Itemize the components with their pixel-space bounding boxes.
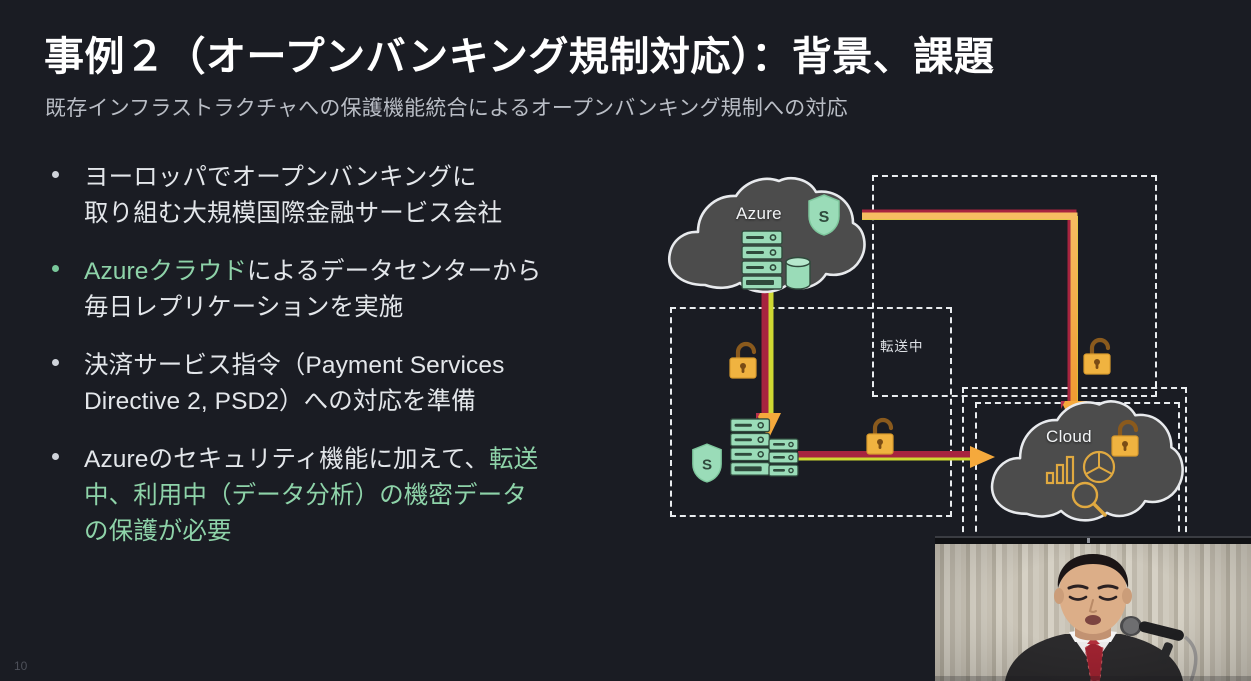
page-subtitle: 既存インフラストラクチャへの保護機能統合によるオープンバンキング規制への対応 xyxy=(45,92,848,122)
list-item-line: Directive 2, PSD2）への対応を準備 xyxy=(84,384,644,420)
azure-cloud-label: Azure xyxy=(736,204,782,224)
bullet-marker-icon xyxy=(52,265,59,272)
server-stack-icon xyxy=(767,437,801,481)
presenter-video[interactable] xyxy=(935,536,1251,681)
list-item-line: 中、利用中（データ分析）の機密データ xyxy=(84,478,644,514)
list-item: 決済サービス指令（Payment Services Directive 2, P… xyxy=(44,348,644,420)
svg-text:S: S xyxy=(819,209,830,226)
bullet-marker-icon xyxy=(52,359,59,366)
page-number: 10 xyxy=(14,659,27,673)
list-item: Azureのセキュリティ機能に加えて、転送 中、利用中（データ分析）の機密データ… xyxy=(44,442,644,550)
magnifier-icon xyxy=(1069,479,1109,519)
open-padlock-icon xyxy=(1080,337,1120,379)
list-item: Azureクラウドによるデータセンターから 毎日レプリケーションを実施 xyxy=(44,254,644,326)
architecture-diagram: Azure S xyxy=(650,165,1195,540)
analytics-cloud-label: Cloud xyxy=(1046,427,1092,447)
video-progress-marker xyxy=(1087,538,1090,543)
azure-cloud-node: Azure S xyxy=(660,173,870,303)
plain-text: によるデータセンターから xyxy=(247,258,541,285)
slide-root: 事例２（オープンバンキング規制対応）：背景、課題 既存インフラストラクチャへの保… xyxy=(0,0,1251,679)
list-item-text: Azureのセキュリティ機能に加えて、転送 中、利用中（データ分析）の機密データ… xyxy=(84,442,644,550)
open-padlock-icon xyxy=(863,417,903,459)
shield-s-icon: S xyxy=(690,442,724,484)
svg-text:S: S xyxy=(702,457,712,474)
shield-s-icon: S xyxy=(806,193,842,237)
list-item-text: ヨーロッパでオープンバンキングに 取り組む大規模国際金融サービス会社 xyxy=(84,160,644,232)
list-item-line: 決済サービス指令（Payment Services xyxy=(84,348,644,384)
list-item-line: 毎日レプリケーションを実施 xyxy=(84,290,644,326)
bullet-marker-icon xyxy=(52,453,59,460)
analytics-cloud-node: Cloud xyxy=(983,393,1188,538)
open-padlock-icon xyxy=(726,341,766,383)
list-item-line: 取り組む大規模国際金融サービス会社 xyxy=(84,196,644,232)
list-item-line: Azureクラウドによるデータセンターから xyxy=(84,254,644,290)
server-rack-icon xyxy=(740,229,786,293)
transit-label: 転送中 xyxy=(880,335,924,355)
video-vignette xyxy=(935,538,1251,681)
database-icon xyxy=(783,255,813,291)
video-top-bar xyxy=(935,538,1251,544)
open-padlock-icon xyxy=(1108,419,1148,461)
page-title: 事例２（オープンバンキング規制対応）：背景、課題 xyxy=(44,24,994,82)
highlight-text: Azureクラウド xyxy=(84,258,247,285)
bullet-list: ヨーロッパでオープンバンキングに 取り組む大規模国際金融サービス会社 Azure… xyxy=(44,160,644,572)
plain-text: Azureのセキュリティ機能に加えて、 xyxy=(84,446,489,473)
list-item-line: の保護が必要 xyxy=(84,514,644,550)
highlight-text: 転送 xyxy=(489,446,538,473)
list-item-line: ヨーロッパでオープンバンキングに xyxy=(84,160,644,196)
list-item: ヨーロッパでオープンバンキングに 取り組む大規模国際金融サービス会社 xyxy=(44,160,644,232)
list-item-text: 決済サービス指令（Payment Services Directive 2, P… xyxy=(84,348,644,420)
list-item-line: Azureのセキュリティ機能に加えて、転送 xyxy=(84,442,644,478)
list-item-text: Azureクラウドによるデータセンターから 毎日レプリケーションを実施 xyxy=(84,254,644,326)
bullet-marker-icon xyxy=(52,171,59,178)
